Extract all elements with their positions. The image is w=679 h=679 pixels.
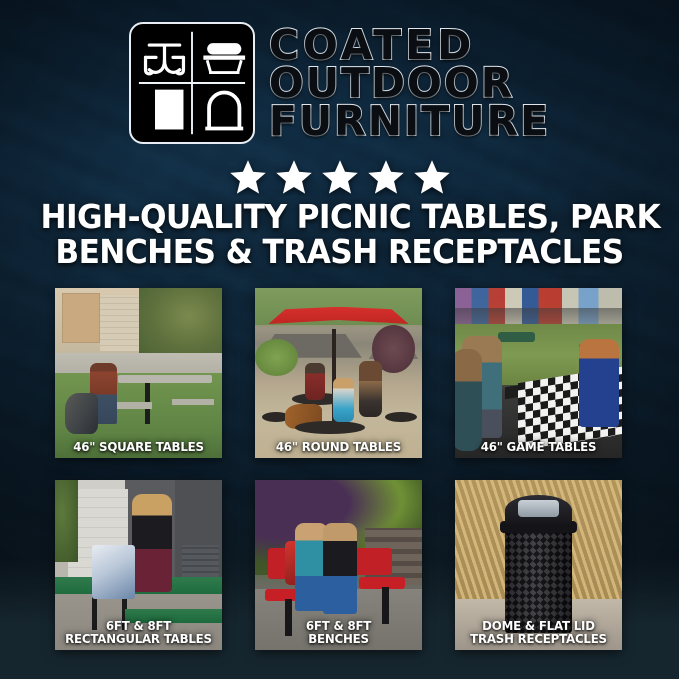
product-tile-grid: 46" SQUARE TABLES 46" ROUND TABLES <box>55 288 623 650</box>
product-tile-trash-receptacles[interactable]: DOME & FLAT LID TRASH RECEPTACLES <box>455 480 622 650</box>
star-icon <box>228 158 268 196</box>
star-icon <box>412 158 452 196</box>
coated-outdoor-furniture-logo-icon <box>129 22 255 144</box>
star-icon <box>274 158 314 196</box>
caption-line-2: TRASH RECEPTACLES <box>461 632 616 645</box>
product-tile-square-tables[interactable]: 46" SQUARE TABLES <box>55 288 222 458</box>
caption-line-1: 46" SQUARE TABLES <box>61 440 216 453</box>
product-tile-caption: 46" ROUND TABLES <box>261 440 416 453</box>
product-tile-caption: 6FT & 8FT BENCHES <box>261 619 416 645</box>
square-tables-photo <box>55 288 222 458</box>
product-tile-caption: 46" SQUARE TABLES <box>61 440 216 453</box>
headline-line-1: HIGH-QUALITY PICNIC TABLES, PARK <box>40 200 638 235</box>
star-icon <box>320 158 360 196</box>
brand-name-line-3: FURNITURE <box>269 103 550 141</box>
product-tile-benches[interactable]: 6FT & 8FT BENCHES <box>255 480 422 650</box>
caption-line-2: RECTANGULAR TABLES <box>61 632 216 645</box>
caption-line-1: 46" GAME TABLES <box>461 440 616 453</box>
product-tile-rectangular-tables[interactable]: 6FT & 8FT RECTANGULAR TABLES <box>55 480 222 650</box>
product-tile-caption: DOME & FLAT LID TRASH RECEPTACLES <box>461 619 616 645</box>
product-tile-game-tables[interactable]: 46" GAME TABLES <box>455 288 622 458</box>
product-tile-round-tables[interactable]: 46" ROUND TABLES <box>255 288 422 458</box>
round-tables-photo <box>255 288 422 458</box>
caption-line-1: 46" ROUND TABLES <box>261 440 416 453</box>
brand-header: COATED OUTDOOR FURNITURE <box>0 22 679 144</box>
product-tile-caption: 46" GAME TABLES <box>461 440 616 453</box>
game-tables-photo <box>455 288 622 458</box>
brand-wordmark: COATED OUTDOOR FURNITURE <box>269 25 550 140</box>
product-tile-caption: 6FT & 8FT RECTANGULAR TABLES <box>61 619 216 645</box>
product-banner: COATED OUTDOOR FURNITURE HIGH-QUALITY PI… <box>0 0 679 679</box>
page-title: HIGH-QUALITY PICNIC TABLES, PARK BENCHES… <box>40 200 638 270</box>
caption-line-2: BENCHES <box>261 632 416 645</box>
headline-line-2: BENCHES & TRASH RECEPTACLES <box>40 235 638 270</box>
star-rating <box>0 158 679 194</box>
star-icon <box>366 158 406 196</box>
